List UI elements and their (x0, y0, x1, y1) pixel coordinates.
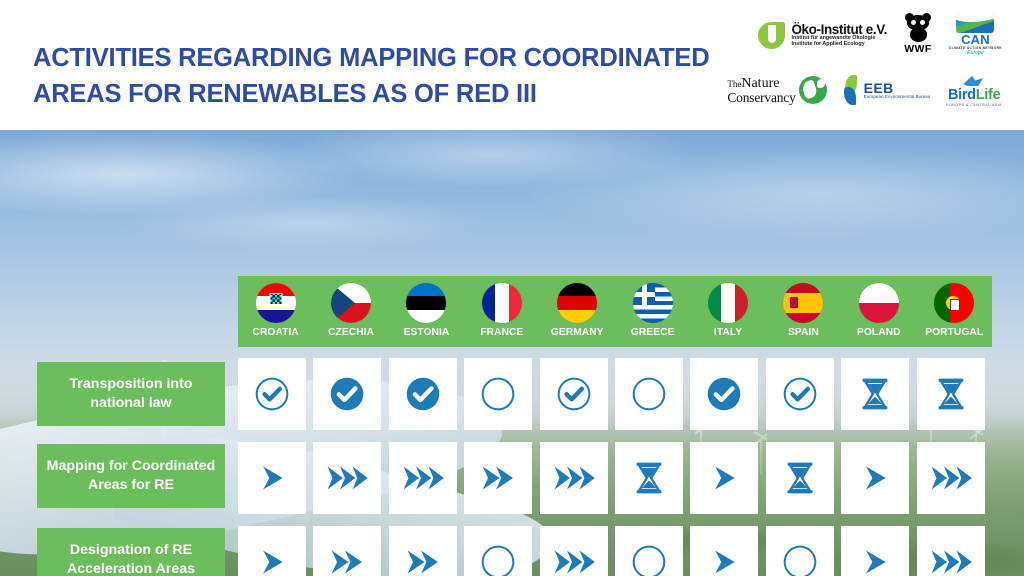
country-header-estonia: ESTONIA (389, 276, 464, 347)
hourglass-icon (928, 371, 974, 417)
circle-empty-icon (626, 371, 672, 417)
status-cell-greece-row2[interactable] (615, 442, 683, 514)
check-filled-icon (400, 371, 446, 417)
status-cell-france-row2[interactable] (464, 442, 532, 514)
status-cell-poland-row2[interactable] (841, 442, 909, 514)
flag-gr-icon (633, 283, 673, 323)
globe-icon (799, 76, 827, 104)
status-cell-poland-row3[interactable] (841, 526, 909, 576)
status-cell-portugal-row1[interactable] (917, 358, 985, 430)
arrow-single-icon (249, 539, 295, 576)
arrow-double-icon (475, 455, 521, 501)
status-cell-italy-row1[interactable] (690, 358, 758, 430)
status-cell-poland-row1[interactable] (841, 358, 909, 430)
country-header-greece: GREECE (615, 276, 690, 347)
status-cell-spain-row3[interactable] (766, 526, 834, 576)
hourglass-icon (626, 455, 672, 501)
country-name-label: GERMANY (551, 327, 604, 338)
status-cell-spain-row1[interactable] (766, 358, 834, 430)
arrow-double-icon (324, 539, 370, 576)
arrow-double-icon (400, 539, 446, 576)
can-swoosh-icon (956, 14, 994, 33)
status-cell-grid (238, 358, 985, 576)
status-cell-czechia-row1[interactable] (313, 358, 381, 430)
oeko-institut-logo: Öko-Institut e.V. Institut für angewandt… (758, 22, 886, 49)
hourglass-icon (777, 455, 823, 501)
eeb-mark-icon (843, 75, 860, 105)
country-header-czechia: CZECHIA (313, 276, 388, 347)
can-logo-label: CAN (961, 33, 990, 46)
flag-hr-icon (256, 283, 296, 323)
arrow-single-icon (852, 539, 898, 576)
page-title: ACTIVITIES REGARDING MAPPING FOR COORDIN… (33, 40, 733, 112)
country-name-label: CROATIA (253, 327, 299, 338)
country-name-label: CZECHIA (328, 327, 374, 338)
status-cell-spain-row2[interactable] (766, 442, 834, 514)
country-header-germany: GERMANY (540, 276, 615, 347)
country-name-label: FRANCE (480, 327, 523, 338)
hourglass-icon (852, 371, 898, 417)
status-cell-italy-row2[interactable] (690, 442, 758, 514)
arrow-triple-icon (324, 455, 370, 501)
can-europe-logo: CAN CLIMATE ACTION NETWORK Europe (949, 14, 1002, 56)
circle-empty-icon (475, 371, 521, 417)
check-outline-icon (777, 371, 823, 417)
birdlife-logo-life: Life (976, 87, 1001, 103)
flag-it-icon (708, 283, 748, 323)
status-cell-france-row3[interactable] (464, 526, 532, 576)
check-filled-icon (701, 371, 747, 417)
logo-row-bottom: TheNature Conservancy EEB European Envir… (727, 74, 1002, 107)
country-header-portugal: PORTUGAL (917, 276, 992, 347)
check-outline-icon (551, 371, 597, 417)
status-cell-germany-row2[interactable] (540, 442, 608, 514)
check-filled-icon (324, 371, 370, 417)
birdlife-logo: BirdLife EUROPE & CENTRAL ASIA (946, 74, 1002, 107)
eeb-logo: EEB European Environmental Bureau (843, 75, 931, 105)
row-label-transposition: Transposition into national law (37, 362, 225, 426)
tnc-logo-the: The (727, 79, 741, 89)
country-name-label: POLAND (857, 327, 901, 338)
status-cell-czechia-row3[interactable] (313, 526, 381, 576)
row-label-mapping: Mapping for Coordinated Areas for RE (37, 444, 225, 508)
status-cell-greece-row1[interactable] (615, 358, 683, 430)
logo-row-top: Öko-Institut e.V. Institut für angewandt… (758, 14, 1002, 56)
country-header-poland: POLAND (841, 276, 916, 347)
status-cell-czechia-row2[interactable] (313, 442, 381, 514)
arrow-triple-icon (551, 539, 597, 576)
flag-fr-icon (482, 283, 522, 323)
status-cell-italy-row3[interactable] (690, 526, 758, 576)
matrix-row (238, 358, 985, 430)
flag-de-icon (557, 283, 597, 323)
row-label-designation: Designation of RE Acceleration Areas (37, 528, 225, 576)
circle-empty-icon (777, 539, 823, 576)
status-cell-france-row1[interactable] (464, 358, 532, 430)
check-outline-icon (249, 371, 295, 417)
status-cell-germany-row1[interactable] (540, 358, 608, 430)
country-name-label: SPAIN (788, 327, 819, 338)
page-header: ACTIVITIES REGARDING MAPPING FOR COORDIN… (0, 0, 1024, 130)
country-name-label: ITALY (714, 327, 742, 338)
arrow-single-icon (852, 455, 898, 501)
status-cell-croatia-row3[interactable] (238, 526, 306, 576)
flag-es-icon (783, 283, 823, 323)
status-cell-estonia-row1[interactable] (389, 358, 457, 430)
matrix-stage: CROATIACZECHIAESTONIAFRANCEGERMANYGREECE… (0, 130, 1024, 576)
status-cell-portugal-row2[interactable] (917, 442, 985, 514)
status-cell-croatia-row2[interactable] (238, 442, 306, 514)
panda-icon (903, 15, 933, 42)
tnc-logo-nature: Nature (741, 76, 779, 91)
wwf-logo: WWF (903, 15, 933, 55)
can-logo-region: Europe (967, 50, 984, 56)
eeb-logo-label: EEB (864, 81, 931, 96)
birdlife-logo-bird: Bird (948, 87, 976, 103)
status-cell-germany-row3[interactable] (540, 526, 608, 576)
country-name-label: ESTONIA (404, 327, 450, 338)
arrow-single-icon (249, 455, 295, 501)
arrow-single-icon (701, 539, 747, 576)
flag-pt-icon (934, 283, 974, 323)
nature-conservancy-logo: TheNature Conservancy (727, 76, 826, 104)
flag-ee-icon (406, 283, 446, 323)
status-cell-croatia-row1[interactable] (238, 358, 306, 430)
country-name-label: GREECE (631, 327, 675, 338)
status-cell-portugal-row3[interactable] (917, 526, 985, 576)
circle-empty-icon (475, 539, 521, 576)
country-status-matrix: CROATIACZECHIAESTONIAFRANCEGERMANYGREECE… (0, 130, 1024, 576)
arrow-single-icon (701, 455, 747, 501)
country-header-france: FRANCE (464, 276, 539, 347)
tnc-logo-conservancy: Conservancy (727, 91, 795, 105)
country-header-croatia: CROATIA (238, 276, 313, 347)
country-header-bar: CROATIACZECHIAESTONIAFRANCEGERMANYGREECE… (238, 276, 992, 347)
arrow-triple-icon (551, 455, 597, 501)
oeko-leaf-icon (758, 22, 785, 49)
status-cell-estonia-row2[interactable] (389, 442, 457, 514)
status-cell-estonia-row3[interactable] (389, 526, 457, 576)
country-name-label: PORTUGAL (925, 327, 983, 338)
matrix-row (238, 442, 985, 514)
bird-icon (959, 74, 989, 88)
arrow-triple-icon (928, 455, 974, 501)
matrix-row (238, 526, 985, 576)
oeko-logo-subtitle-en: Institute for Applied Ecology (791, 42, 886, 48)
flag-cz-icon (331, 283, 371, 323)
wwf-logo-label: WWF (904, 43, 931, 55)
country-header-spain: SPAIN (766, 276, 841, 347)
status-cell-greece-row3[interactable] (615, 526, 683, 576)
birdlife-logo-subtitle: EUROPE & CENTRAL ASIA (946, 103, 1002, 107)
circle-empty-icon (626, 539, 672, 576)
arrow-triple-icon (400, 455, 446, 501)
eeb-logo-subtitle: European Environmental Bureau (864, 95, 931, 100)
flag-pl-icon (859, 283, 899, 323)
arrow-triple-icon (928, 539, 974, 576)
country-header-italy: ITALY (690, 276, 765, 347)
